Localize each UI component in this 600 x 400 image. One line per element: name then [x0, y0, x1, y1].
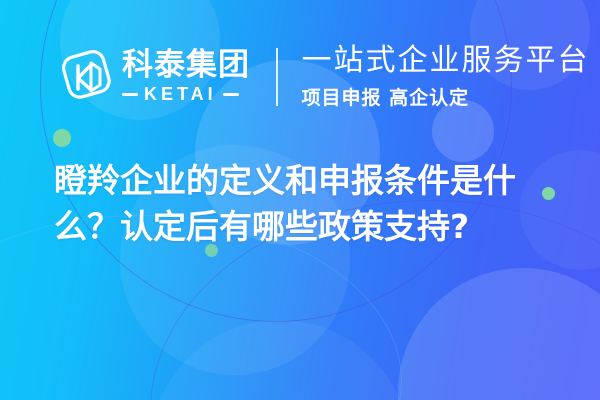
- logo-rule-left: [122, 93, 138, 96]
- page-title: 瞪羚企业的定义和申报条件是什么？认定后有哪些政策支持?: [54, 158, 564, 249]
- logo-wordmark: 科泰集团 KETAI: [122, 49, 250, 106]
- accent-dot-1: [53, 129, 71, 147]
- banner-header: 科泰集团 KETAI 一站式企业服务平台 项目申报 高企认定: [0, 38, 600, 116]
- ketai-monogram-icon: [60, 49, 112, 105]
- logo-company-cn: 科泰集团: [122, 49, 250, 82]
- logo-english-row: KETAI: [122, 84, 250, 105]
- logo-rule-right: [223, 93, 239, 96]
- tagline-secondary: 项目申报 高企认定: [302, 83, 590, 110]
- promo-banner: 科泰集团 KETAI 一站式企业服务平台 项目申报 高企认定 瞪羚企业的定义和申…: [0, 0, 600, 400]
- brand-logo[interactable]: 科泰集团 KETAI: [60, 49, 250, 106]
- header-divider: [276, 48, 278, 106]
- logo-company-en: KETAI: [144, 84, 217, 105]
- tagline-primary: 一站式企业服务平台: [302, 44, 590, 78]
- tagline-block: 一站式企业服务平台 项目申报 高企认定: [302, 44, 590, 110]
